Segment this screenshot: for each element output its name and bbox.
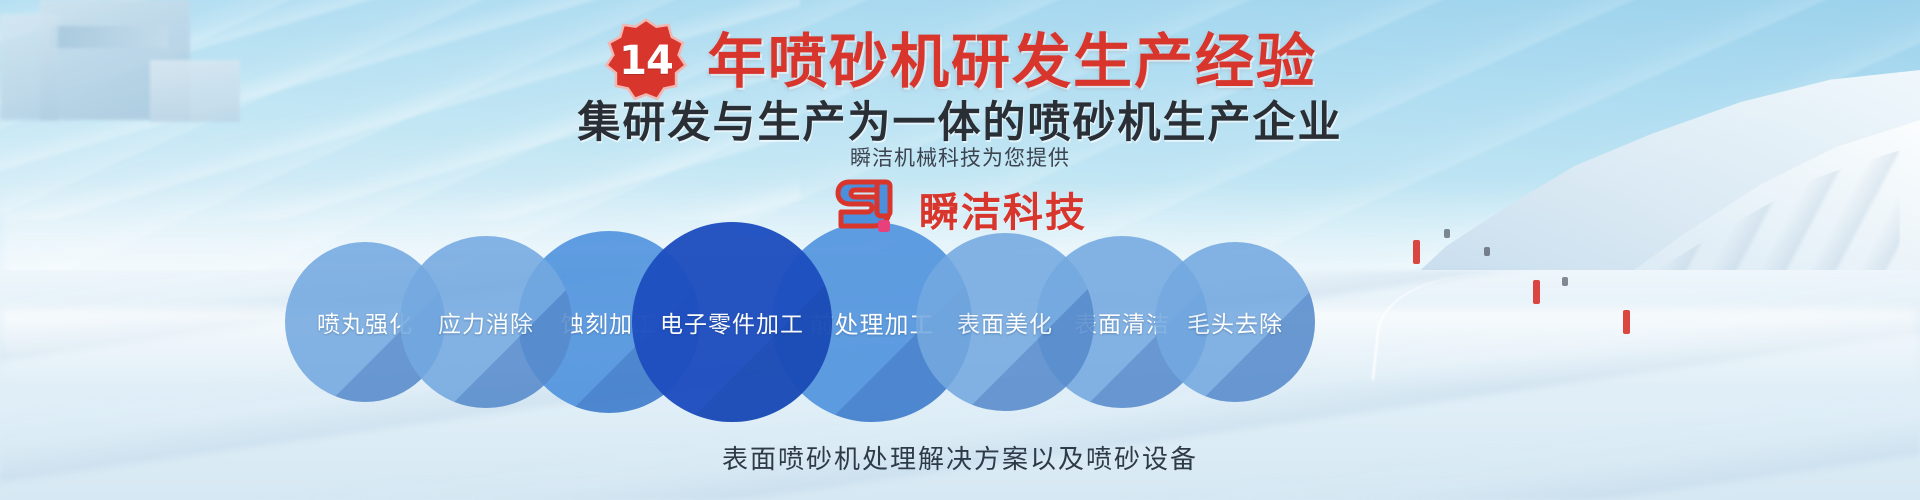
service-circle-label: 毛头去除 [1187, 305, 1283, 339]
service-circle-label: 电子零件加工 [660, 305, 804, 339]
tagline-text: 瞬洁机械科技为您提供 [0, 142, 1920, 172]
headline-text: 年喷砂机研发生产经验 [707, 32, 1317, 91]
service-circle-label: 表面美化 [957, 305, 1053, 339]
subheadline-text: 集研发与生产为一体的喷砂机生产企业 [0, 88, 1920, 150]
sj-monogram-icon [833, 176, 905, 242]
bottom-caption-text: 表面喷砂机处理解决方案以及喷砂设备 [0, 439, 1920, 476]
service-circle-label: 应力消除 [438, 305, 534, 339]
service-circle[interactable]: 表面美化 [916, 233, 1094, 411]
promo-banner: 14 年喷砂机研发生产经验 集研发与生产为一体的喷砂机生产企业 瞬洁机械科技为您… [0, 0, 1920, 500]
service-circle[interactable]: 应力消除 [400, 236, 572, 408]
service-circle[interactable]: 电子零件加工 [632, 222, 832, 422]
service-circle[interactable]: 毛头去除 [1155, 242, 1315, 402]
years-badge-number: 14 [619, 41, 673, 81]
brand-logo: 瞬洁科技 [0, 176, 1920, 242]
brand-logo-text: 瞬洁科技 [919, 180, 1087, 238]
service-circle-label: 喷丸强化 [317, 305, 413, 339]
